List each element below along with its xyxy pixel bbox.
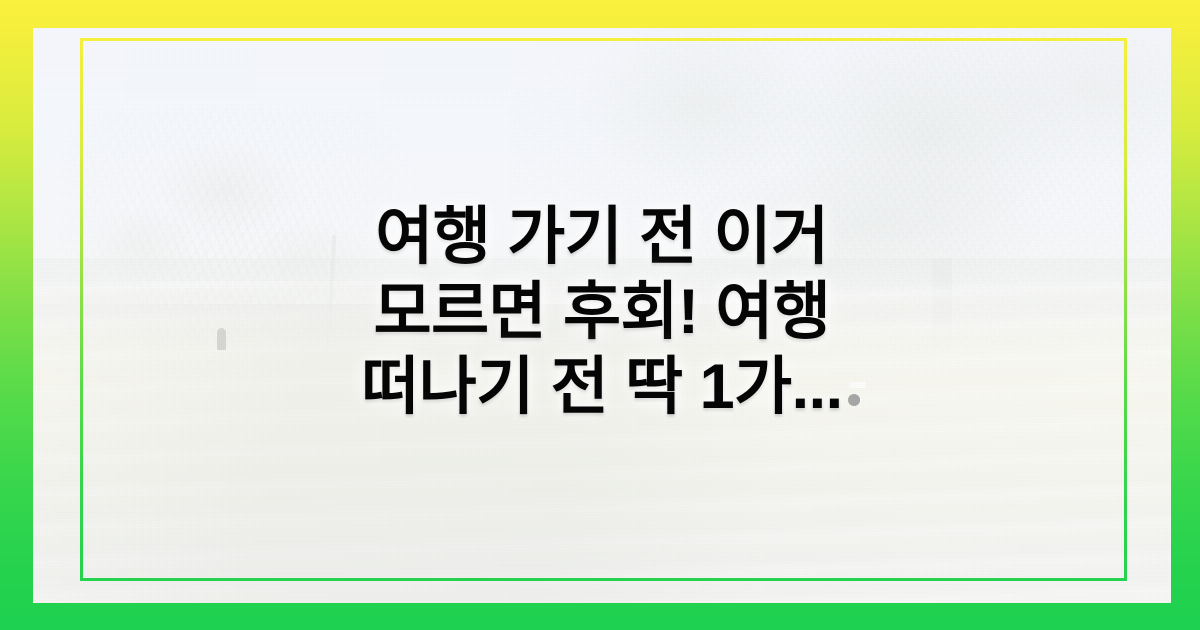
headline-line-1: 여행 가기 전 이거 <box>375 200 828 275</box>
headline-block: 여행 가기 전 이거 모르면 후회! 여행 떠나기 전 딱 1가... <box>33 28 1171 603</box>
headline-line-2: 모르면 후회! 여행 <box>374 275 831 350</box>
background-photo: 여행 가기 전 이거 모르면 후회! 여행 떠나기 전 딱 1가... <box>33 28 1171 603</box>
thumbnail-card: 여행 가기 전 이거 모르면 후회! 여행 떠나기 전 딱 1가... <box>0 0 1200 630</box>
headline-line-3: 떠나기 전 딱 1가... <box>361 350 842 425</box>
